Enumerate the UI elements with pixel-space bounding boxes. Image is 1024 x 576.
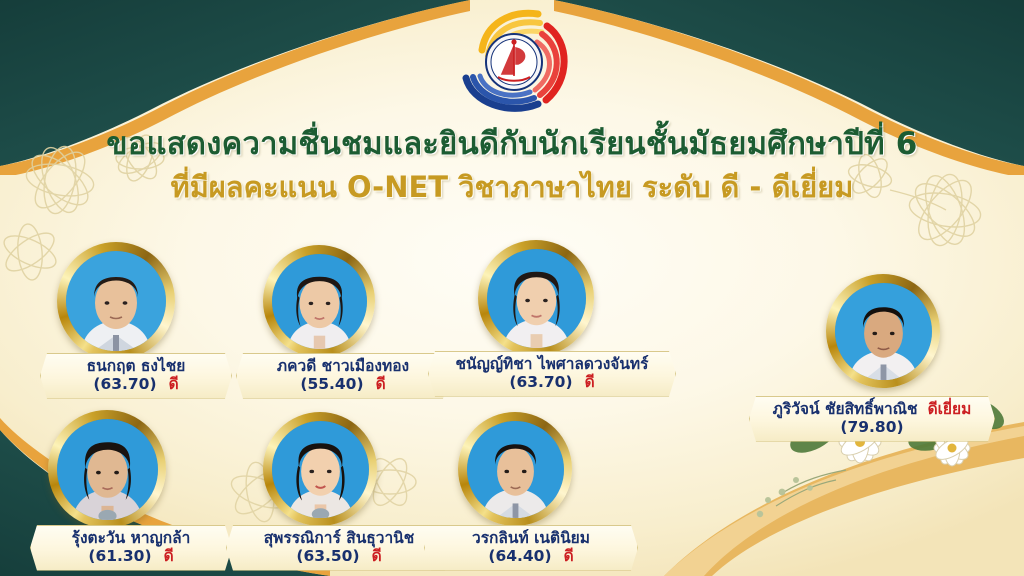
student-name-text: ภูริวัจน์ ชัยสิทธิ์พาณิช bbox=[773, 400, 918, 418]
student-card bbox=[478, 240, 594, 356]
photo-frame bbox=[478, 240, 594, 356]
certificate-poster: ขอแสดงความชื่นชมและยินดีกับนักเรียนชั้นม… bbox=[0, 0, 1024, 576]
student-grade: ดี bbox=[376, 375, 386, 393]
student-score: (63.50) bbox=[296, 547, 359, 565]
student-nameplate: ธนกฤต ธงไชย (63.70) ดี bbox=[40, 353, 232, 399]
student-photo bbox=[272, 254, 367, 349]
student-score: (64.40) bbox=[488, 547, 551, 565]
photo-frame bbox=[263, 412, 377, 526]
student-photo bbox=[487, 249, 586, 348]
student-score: (79.80) bbox=[840, 418, 903, 436]
logo-emblem bbox=[486, 34, 542, 90]
photo-frame bbox=[57, 242, 175, 360]
student-nameplate: รุ้งตะวัน หาญกล้า (61.30) ดี bbox=[30, 525, 232, 571]
school-logo bbox=[452, 4, 576, 116]
student-nameplate: ภูริวัจน์ ชัยสิทธิ์พาณิชดีเยี่ยม (79.80) bbox=[749, 396, 995, 442]
student-card bbox=[263, 412, 377, 526]
student-score: (55.40) bbox=[300, 375, 363, 393]
student-card bbox=[458, 412, 572, 526]
student-card bbox=[57, 242, 175, 360]
student-name: ภูริวัจน์ ชัยสิทธิ์พาณิชดีเยี่ยม bbox=[773, 400, 972, 418]
photo-frame bbox=[458, 412, 572, 526]
student-name: รุ้งตะวัน หาญกล้า bbox=[72, 529, 191, 547]
student-name: สุพรรณิการ์ สินธุวานิช bbox=[264, 529, 415, 547]
student-nameplate: วรกลินท์ เนตินิยม (64.40) ดี bbox=[424, 525, 638, 571]
student-card bbox=[263, 245, 375, 357]
student-grade: ดีเยี่ยม bbox=[928, 400, 972, 418]
title-block: ขอแสดงความชื่นชมและยินดีกับนักเรียนชั้นม… bbox=[0, 126, 1024, 205]
student-nameplate: สุพรรณิการ์ สินธุวานิช (63.50) ดี bbox=[226, 525, 452, 571]
student-name: ธนกฤต ธงไชย bbox=[87, 357, 186, 375]
student-photo bbox=[467, 421, 564, 518]
student-score: (61.30) bbox=[88, 547, 151, 565]
student-photo bbox=[272, 421, 369, 518]
student-grade: ดี bbox=[564, 547, 574, 565]
student-grade: ดี bbox=[164, 547, 174, 565]
student-photo bbox=[835, 283, 932, 380]
title-line-2: ที่มีผลคะแนน O-NET วิชาภาษาไทย ระดับ ดี … bbox=[0, 170, 1024, 205]
student-score: (63.70) bbox=[509, 373, 572, 391]
student-nameplate: ภควดี ชาวเมืองทอง (55.40) ดี bbox=[236, 353, 450, 399]
student-grade: ดี bbox=[585, 373, 595, 391]
student-photo bbox=[57, 419, 158, 520]
photo-frame bbox=[826, 274, 940, 388]
student-nameplate: ชนัญญ์ทิชา ไพศาลดวงจันทร์ (63.70) ดี bbox=[428, 351, 676, 397]
student-card bbox=[826, 274, 940, 388]
student-grade: ดี bbox=[372, 547, 382, 565]
student-name: วรกลินท์ เนตินิยม bbox=[472, 529, 590, 547]
student-card bbox=[48, 410, 166, 528]
student-score: (63.70) bbox=[93, 375, 156, 393]
student-name: ชนัญญ์ทิชา ไพศาลดวงจันทร์ bbox=[456, 355, 649, 373]
student-grade: ดี bbox=[169, 375, 179, 393]
title-line-1: ขอแสดงความชื่นชมและยินดีกับนักเรียนชั้นม… bbox=[0, 126, 1024, 164]
photo-frame bbox=[263, 245, 375, 357]
photo-frame bbox=[48, 410, 166, 528]
student-photo bbox=[66, 251, 166, 351]
student-name: ภควดี ชาวเมืองทอง bbox=[277, 357, 409, 375]
